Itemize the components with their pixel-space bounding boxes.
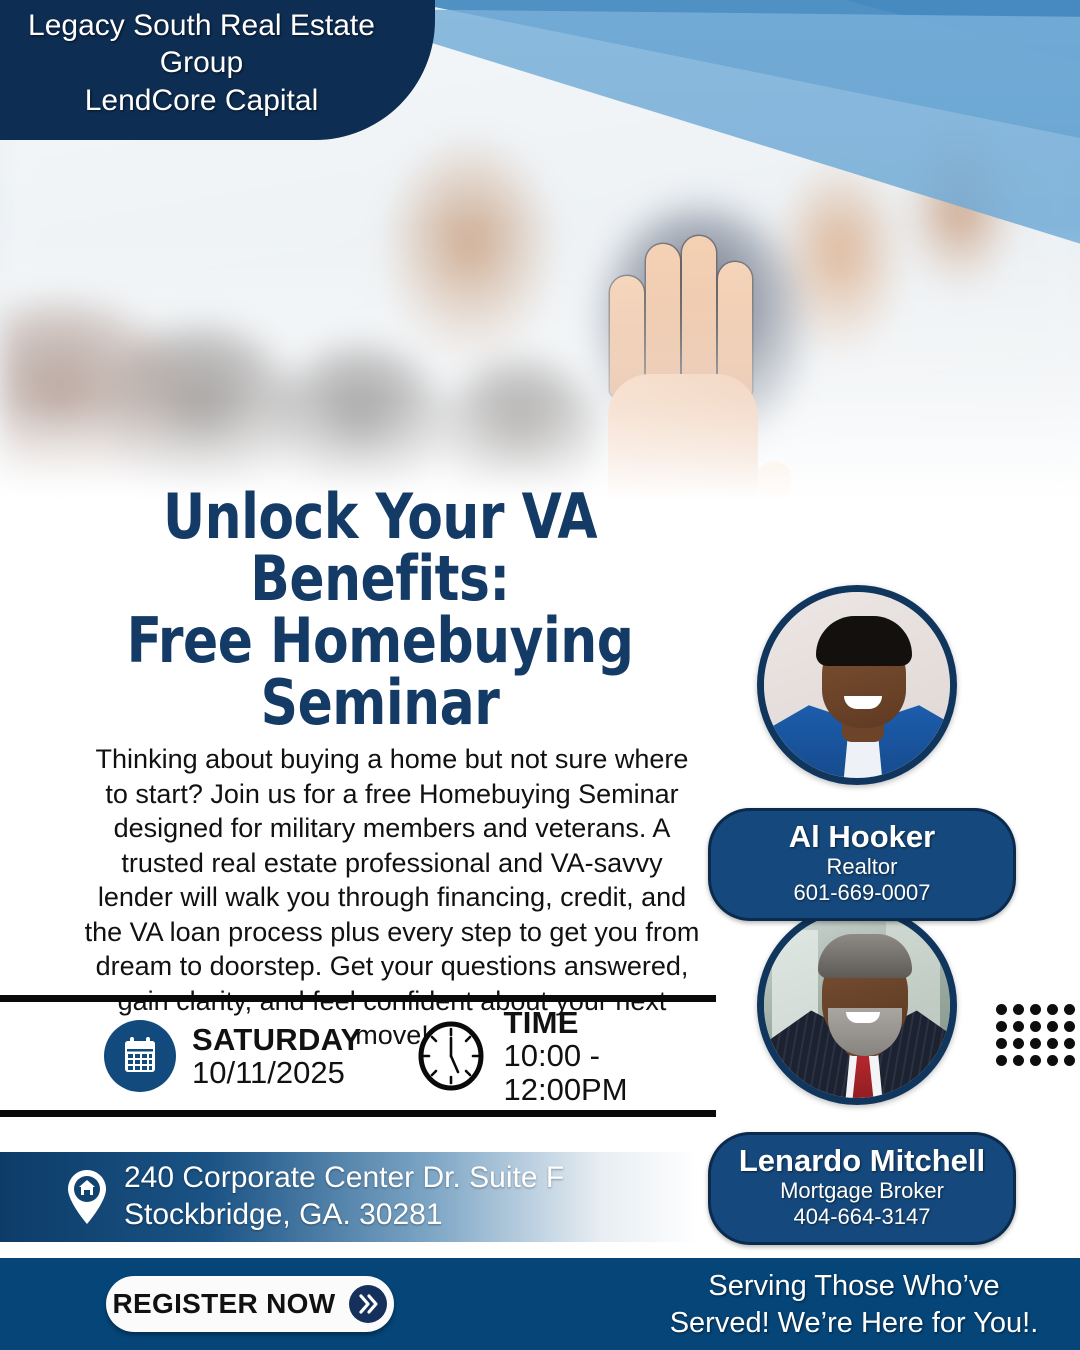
dot-grid-decoration bbox=[996, 1004, 1077, 1068]
address-line-2: Stockbridge, GA. 30281 bbox=[124, 1197, 564, 1234]
speaker-name: Al Hooker bbox=[721, 820, 1003, 854]
speaker-photo-al-hooker bbox=[757, 585, 957, 785]
brand-line-2: LendCore Capital bbox=[8, 83, 395, 120]
register-button-label: REGISTER NOW bbox=[113, 1288, 336, 1320]
footer-bar: REGISTER NOW Serving Those Who’ve Served… bbox=[0, 1258, 1080, 1350]
title-line-3: Seminar bbox=[82, 672, 677, 734]
clock-icon bbox=[415, 1020, 487, 1092]
speaker-phone[interactable]: 601-669-0007 bbox=[721, 880, 1003, 906]
footer-tagline: Serving Those Who’ve Served! We’re Here … bbox=[644, 1268, 1064, 1342]
title-line-1: Unlock Your VA Benefits: bbox=[82, 486, 677, 610]
speaker-photo-lenardo-mitchell bbox=[757, 905, 957, 1105]
speaker-phone[interactable]: 404-664-3147 bbox=[721, 1204, 1003, 1230]
event-location: 240 Corporate Center Dr. Suite F Stockbr… bbox=[0, 1152, 700, 1242]
event-time: TIME 10:00 - 12:00PM bbox=[415, 1006, 716, 1106]
brand-badge: Legacy South Real Estate Group LendCore … bbox=[0, 0, 435, 140]
address-line-1: 240 Corporate Center Dr. Suite F bbox=[124, 1160, 564, 1197]
calendar-icon bbox=[104, 1020, 176, 1092]
speaker-name: Lenardo Mitchell bbox=[721, 1144, 1003, 1178]
map-pin-icon bbox=[64, 1168, 110, 1226]
event-date-text: SATURDAY 10/11/2025 bbox=[192, 1023, 361, 1090]
event-time-value: 10:00 - 12:00PM bbox=[503, 1039, 716, 1106]
speaker-badge-lenardo-mitchell: Lenardo Mitchell Mortgage Broker 404-664… bbox=[708, 1132, 1016, 1245]
event-meta-row: SATURDAY 10/11/2025 bbox=[0, 1006, 716, 1106]
double-chevron-right-icon bbox=[349, 1285, 387, 1323]
title-line-2: Free Homebuying bbox=[82, 610, 677, 672]
divider-bottom bbox=[0, 1110, 716, 1117]
event-time-text: TIME 10:00 - 12:00PM bbox=[503, 1006, 716, 1106]
event-date-value: 10/11/2025 bbox=[192, 1056, 361, 1089]
tagline-line-2: Served! We’re Here for You!. bbox=[644, 1305, 1064, 1342]
event-date-label: SATURDAY bbox=[192, 1023, 361, 1056]
speaker-role: Realtor bbox=[721, 854, 1003, 880]
event-time-label: TIME bbox=[503, 1006, 716, 1039]
speaker-role: Mortgage Broker bbox=[721, 1178, 1003, 1204]
event-title: Unlock Your VA Benefits: Free Homebuying… bbox=[82, 486, 677, 734]
flyer-canvas: Legacy South Real Estate Group LendCore … bbox=[0, 0, 1080, 1350]
brand-line-1: Legacy South Real Estate Group bbox=[8, 8, 395, 81]
event-date: SATURDAY 10/11/2025 bbox=[104, 1020, 361, 1092]
avatar bbox=[764, 592, 950, 778]
speaker-badge-al-hooker: Al Hooker Realtor 601-669-0007 bbox=[708, 808, 1016, 921]
divider-top bbox=[0, 995, 716, 1002]
tagline-line-1: Serving Those Who’ve bbox=[644, 1268, 1064, 1305]
avatar bbox=[764, 912, 950, 1098]
event-address: 240 Corporate Center Dr. Suite F Stockbr… bbox=[124, 1160, 564, 1233]
register-now-button[interactable]: REGISTER NOW bbox=[106, 1276, 394, 1332]
